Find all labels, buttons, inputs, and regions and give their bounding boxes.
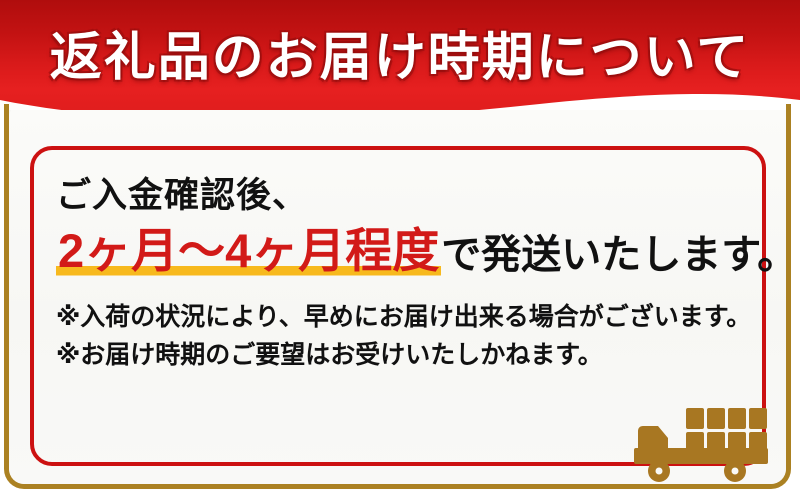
page-title: 返礼品のお届け時期について	[0, 0, 800, 104]
note-no-date-requests: ※お届け時期のご要望はお受けいたしかねます。	[56, 337, 756, 373]
delivery-truck-icon	[628, 396, 780, 492]
shipping-period-highlight: 2ヶ月～4ヶ月程度	[56, 227, 441, 277]
payment-confirmation-line: ご入金確認後、	[56, 178, 756, 213]
delivery-period-banner: 返礼品のお届け時期について ご入金確認後、 2ヶ月～4ヶ月程度で発送いたします。…	[0, 0, 800, 496]
shipping-period-suffix: で発送いたします。	[441, 235, 797, 277]
content-text-block: ご入金確認後、 2ヶ月～4ヶ月程度で発送いたします。 ※入荷の状況により、早めに…	[56, 178, 756, 374]
shipping-period-line: 2ヶ月～4ヶ月程度で発送いたします。	[56, 227, 756, 277]
note-stock-availability: ※入荷の状況により、早めにお届け出来る場合がございます。	[56, 299, 756, 335]
